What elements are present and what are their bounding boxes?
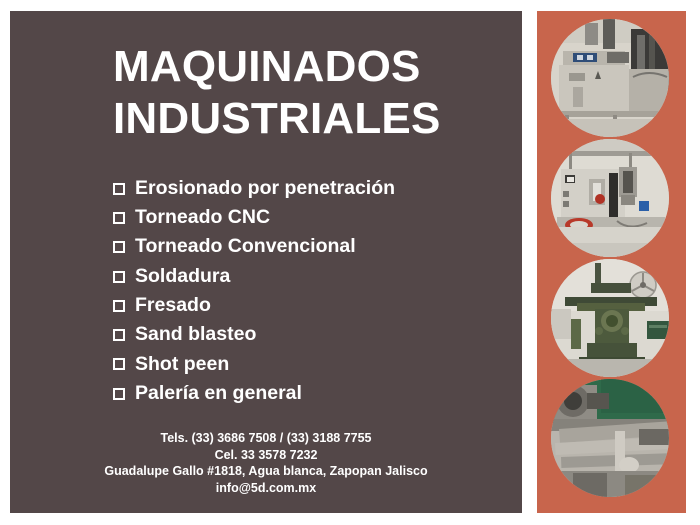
service-label: Erosionado por penetración — [135, 179, 395, 199]
checkbox-square-icon — [113, 212, 125, 224]
checkbox-square-icon — [113, 183, 125, 195]
photo-gallery-panel — [537, 11, 686, 513]
checkbox-square-icon — [113, 329, 125, 341]
checkbox-square-icon — [113, 241, 125, 253]
list-item: Fresado — [113, 291, 513, 320]
list-item: Torneado Convencional — [113, 233, 513, 262]
service-label: Torneado Convencional — [135, 237, 356, 257]
edm-photo-graphic — [551, 19, 669, 137]
checkbox-square-icon — [113, 300, 125, 312]
conventional-lathe-photo — [551, 379, 669, 497]
list-item: Palería en general — [113, 379, 513, 408]
contact-email: info@5d.com.mx — [10, 480, 522, 497]
list-item: Soldadura — [113, 262, 513, 291]
cnc-lathe-machine-photo — [551, 139, 669, 257]
contact-block: Tels. (33) 3686 7508 / (33) 3188 7755 Ce… — [10, 430, 522, 496]
checkbox-square-icon — [113, 358, 125, 370]
list-item: Torneado CNC — [113, 203, 513, 232]
contact-address: Guadalupe Gallo #1818, Agua blanca, Zapo… — [10, 463, 522, 480]
page-title: MAQUINADOS INDUSTRIALES — [113, 41, 513, 145]
lathe-photo-graphic — [551, 379, 669, 497]
service-label: Palería en general — [135, 384, 302, 404]
checkbox-square-icon — [113, 388, 125, 400]
title-line-1: MAQUINADOS — [113, 41, 513, 93]
list-item: Sand blasteo — [113, 320, 513, 349]
contact-phones: Tels. (33) 3686 7508 / (33) 3188 7755 — [10, 430, 522, 447]
main-dark-panel: MAQUINADOS INDUSTRIALES Erosionado por p… — [10, 11, 522, 513]
list-item: Erosionado por penetración — [113, 174, 513, 203]
list-item: Shot peen — [113, 350, 513, 379]
edm-penetration-machine-photo — [551, 19, 669, 137]
checkbox-square-icon — [113, 271, 125, 283]
cnc-lathe-photo-graphic — [551, 139, 669, 257]
contact-mobile: Cel. 33 3578 7232 — [10, 447, 522, 464]
service-label: Fresado — [135, 296, 211, 316]
milling-photo-graphic — [551, 259, 669, 377]
milling-machine-photo — [551, 259, 669, 377]
services-list: Erosionado por penetración Torneado CNC … — [113, 174, 513, 408]
service-label: Torneado CNC — [135, 208, 270, 228]
service-label: Sand blasteo — [135, 325, 256, 345]
title-line-2: INDUSTRIALES — [113, 93, 513, 145]
service-label: Shot peen — [135, 355, 229, 375]
service-label: Soldadura — [135, 267, 230, 287]
